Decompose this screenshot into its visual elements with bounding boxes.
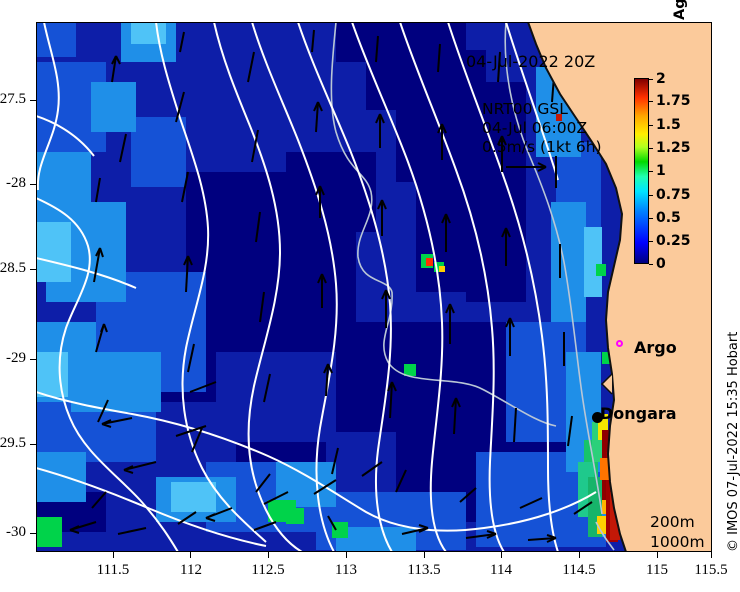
date-label: 04-Jul-2022 20Z	[466, 52, 595, 71]
colorbar-tick-label: 1.25	[656, 140, 691, 156]
x-tick-label: 115.5	[676, 562, 740, 579]
colorbar-tick-label: 0	[656, 256, 666, 272]
y-tick-label: -29.5	[0, 435, 26, 452]
colorbar-tick-label: 2	[656, 71, 666, 87]
credit-text: © IMOS 07-Jul-2022 15:35 Hobart	[726, 332, 740, 552]
vector-legend-line1: NRT00 GSL	[482, 100, 602, 119]
land-polygon	[36, 22, 712, 552]
y-tick-label: -30	[0, 524, 26, 541]
x-tick-label: 114.5	[544, 562, 614, 579]
depth-legend-200m: 200m	[650, 512, 712, 532]
argo-float-marker[interactable]	[616, 340, 623, 347]
ocean-current-figure: 04-Jul-2022 20Z NRT00 GSL 04-Jul 06:00Z …	[0, 0, 740, 592]
colorbar-tick-label: 0.25	[656, 233, 691, 249]
y-tick-label: -28.5	[0, 260, 26, 277]
dongara-label: Dongara	[600, 404, 677, 423]
x-tick-label: 112.5	[233, 562, 303, 579]
y-tick-label: -29	[0, 350, 26, 367]
vector-legend-line2: 04-Jul 06:00Z	[482, 119, 602, 138]
depth-legend-1000m: 1000m	[650, 532, 712, 552]
colorbar-tick-label: 1	[656, 163, 666, 179]
colorbar-title: Age (days) of filled SST (wrt latest)	[672, 0, 688, 20]
map-plot-area[interactable]: 04-Jul-2022 20Z NRT00 GSL 04-Jul 06:00Z …	[36, 22, 712, 552]
x-tick-label: 113	[311, 562, 381, 579]
colorbar-tick-label: 1.75	[656, 93, 691, 109]
y-tick-label: -28	[0, 175, 26, 192]
depth-contour-legend: 200m 1000m	[650, 512, 712, 552]
colorbar-gradient	[634, 78, 649, 264]
colorbar-tick-label: 0.5	[656, 210, 681, 226]
colorbar-tick-label: 1.5	[656, 117, 681, 133]
vector-scale-legend: NRT00 GSL 04-Jul 06:00Z 0.5m/s (1kt 6h)	[482, 100, 602, 175]
x-tick-label: 111.5	[78, 562, 148, 579]
vector-legend-line3: 0.5m/s (1kt 6h)	[482, 138, 602, 157]
reference-arrow-icon	[504, 159, 564, 175]
x-tick-label: 112	[156, 562, 226, 579]
colorbar-tick-label: 0.75	[656, 187, 691, 203]
x-tick-label: 113.5	[389, 562, 459, 579]
x-tick-label: 114	[466, 562, 536, 579]
argo-label: Argo	[634, 338, 677, 357]
y-tick-label: -27.5	[0, 91, 26, 108]
